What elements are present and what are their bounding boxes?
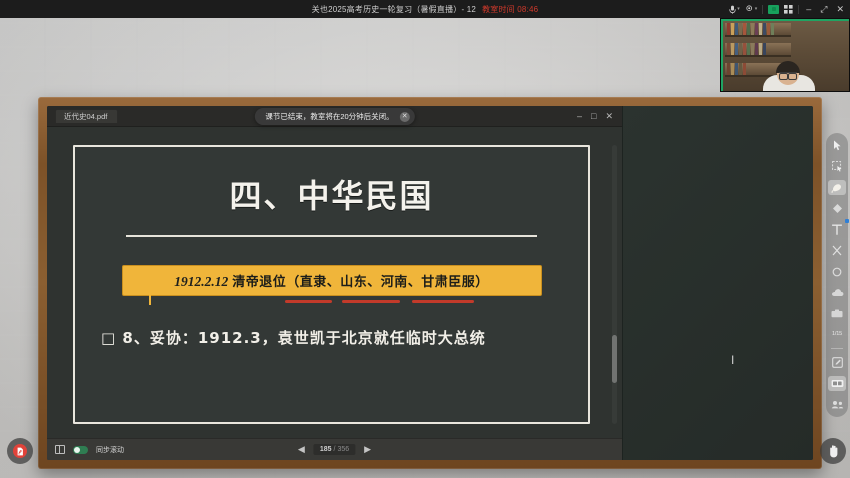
grid-layout-icon[interactable] [784,5,793,14]
books [725,23,774,35]
text-icon[interactable] [828,222,846,237]
share-screen-icon[interactable] [768,5,779,14]
toolbox-icon[interactable] [828,306,846,321]
pdf-scrollbar-thumb[interactable] [612,335,617,383]
camera-caret-icon[interactable]: ▾ [755,7,758,12]
raise-hand-button[interactable] [7,438,33,464]
hand-tool-button[interactable] [820,438,846,464]
close-button[interactable]: ✕ [834,4,846,15]
pdf-page-area[interactable]: 四、中华民国 1912.2.12 清帝退位（直隶、山东、河南、甘肃臣服） [47,127,622,438]
highlight-box: 1912.2.12 清帝退位（直隶、山东、河南、甘肃臣服） [122,265,542,296]
blackboard-frame: 近代史04.pdf – □ ✕ 课节已结束，教室将在20分钟后关闭。 ✕ [38,97,822,469]
bookshelf-row [725,43,791,57]
pdf-file-tab[interactable]: 近代史04.pdf [55,109,118,124]
sync-scroll-toggle[interactable] [73,446,88,454]
screen-root: 关也2025高考历史一轮复习（暑假直播）- 12 教室时间 08:46 ▾ ▾ … [0,0,850,478]
underline-mark [285,300,332,303]
blackboard-right-pane[interactable]: I [622,106,813,460]
page-navigation: ◀ 185 / 356 ▶ [298,444,371,455]
current-page: 185 [320,446,332,453]
camera-icon[interactable]: ▾ [745,5,758,13]
cloud-upload-icon[interactable] [828,285,846,300]
tool-indicator-dot [845,219,849,223]
page-count-badge: 1/15 [828,327,846,342]
shape-circle-icon[interactable] [828,264,846,279]
class-ended-toast: 课节已结束，教室将在20分钟后关闭。 ✕ [254,108,414,125]
divider [762,5,763,14]
pdf-badge-icon [13,444,27,458]
eraser-icon[interactable] [828,201,846,216]
red-underline-annotations [122,299,542,305]
text-cursor-icon: I [731,354,737,366]
pdf-maximize-button[interactable]: □ [591,112,596,121]
divider [798,5,799,14]
pdf-minimize-button[interactable]: – [577,112,582,121]
pdf-bottom-toolbar: 同步滚动 ◀ 185 / 356 ▶ [47,438,622,460]
mic-caret-icon[interactable]: ▾ [737,7,740,12]
maximize-button[interactable]: ⤢ [818,4,829,15]
cursor-icon[interactable] [828,138,846,153]
bookshelf-row [725,23,791,37]
app-title-text: 关也2025高考历史一轮复习（暑假直播）- 12 [312,4,476,15]
window-controls: ▾ ▾ – ⤢ ✕ [729,0,846,18]
slide-content: 四、中华民国 1912.2.12 清帝退位（直隶、山东、河南、甘肃臣服） [73,145,590,424]
title-divider [126,235,536,237]
blackboard-left-pane: 近代史04.pdf – □ ✕ 课节已结束，教室将在20分钟后关闭。 ✕ [47,106,622,460]
scissors-icon[interactable] [828,243,846,258]
slide-inner: 四、中华民国 1912.2.12 清帝退位（直隶、山东、河南、甘肃臣服） [75,147,588,422]
presenter-webcam[interactable] [720,18,850,92]
underline-mark [412,300,474,303]
pdf-bottom-left: 同步滚动 [55,445,124,455]
participants-icon[interactable] [828,397,846,412]
books [725,43,766,55]
glasses-icon [779,72,797,77]
books [725,63,746,75]
pdf-viewer-window: 近代史04.pdf – □ ✕ 课节已结束，教室将在20分钟后关闭。 ✕ [47,106,622,460]
hand-icon [827,444,840,458]
page-separator: / [334,446,336,453]
divider [831,348,843,349]
highlight-date: 1912.2.12 [174,274,228,290]
pdf-window-controls: – □ ✕ [577,112,619,121]
app-title-bar: 关也2025高考历史一轮复习（暑假直播）- 12 教室时间 08:46 ▾ ▾ … [0,0,850,18]
pdf-close-button[interactable]: ✕ [605,112,613,121]
prev-page-button[interactable]: ◀ [298,445,305,454]
highlight-text: 清帝退位（直隶、山东、河南、甘肃臣服） [232,271,489,290]
next-page-button[interactable]: ▶ [364,445,371,454]
whiteboard-icon[interactable] [828,376,846,391]
classroom-time-label: 教室时间 08:46 [482,4,538,15]
toast-close-icon[interactable]: ✕ [400,112,410,122]
underline-mark [342,300,400,303]
slide-title: 四、中华民国 [93,171,570,217]
minimize-button[interactable]: – [804,4,813,14]
brush-icon[interactable] [828,180,846,195]
thumbnail-panel-icon[interactable] [55,445,65,454]
toast-message: 课节已结束，教室将在20分钟后关闭。 [265,111,393,122]
app-title: 关也2025高考历史一轮复习（暑假直播）- 12 教室时间 08:46 [0,0,850,18]
pdf-scrollbar-track[interactable] [612,145,617,424]
webcam-scene [721,19,849,91]
select-region-icon[interactable] [828,159,846,174]
page-indicator[interactable]: 185 / 356 [314,444,355,455]
sync-scroll-label: 同步滚动 [96,445,124,455]
annotation-toolbar: 1/15 [826,133,848,417]
new-page-icon[interactable] [828,355,846,370]
slide-bullet-line: □ 8、妥协：1912.3，袁世凯于北京就任临时大总统 [101,327,570,348]
total-pages: 356 [337,446,349,453]
blackboard: 近代史04.pdf – □ ✕ 课节已结束，教室将在20分钟后关闭。 ✕ [47,106,813,460]
mic-icon[interactable]: ▾ [729,5,740,14]
